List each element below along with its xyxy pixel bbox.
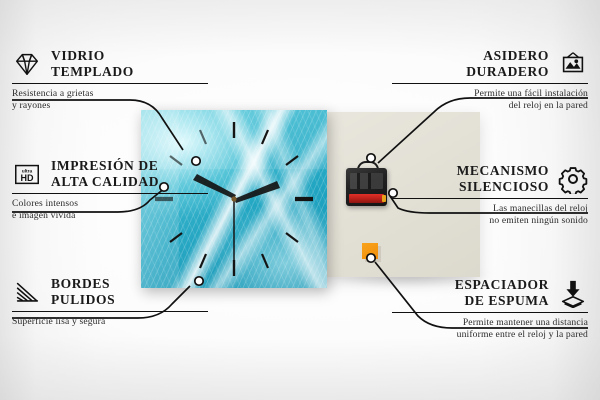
diamond-icon: [12, 49, 42, 79]
feature-header: ASIDERO DURADERO: [392, 48, 588, 79]
clock-movement-box: [346, 168, 387, 206]
gear-icon: [558, 164, 588, 194]
feature-description: Las manecillas del reloj no emiten ningú…: [392, 203, 588, 227]
battery: [349, 194, 384, 203]
feature-divider: [392, 198, 588, 199]
connector-dot-asidero: [367, 154, 375, 162]
feature-description: Permite mantener una distancia uniforme …: [392, 317, 588, 341]
feature-asidero-duradero: ASIDERO DURADERO Permite una fácil insta…: [392, 48, 588, 112]
feature-mecanismo-silencioso: MECANISMO SILENCIOSO Las manecillas del …: [392, 163, 588, 227]
feature-divider: [12, 83, 208, 84]
feature-vidrio-templado: VIDRIO TEMPLADO Resistencia a grietas y …: [12, 48, 208, 112]
feature-title: ASIDERO DURADERO: [466, 48, 549, 79]
feature-header: BORDES PULIDOS: [12, 276, 208, 307]
feature-divider: [392, 312, 588, 313]
feature-impresion-alta-calidad: ultra HD IMPRESIÓN DE ALTA CALIDAD Color…: [12, 158, 208, 222]
ultra-hd-bottom-label: HD: [21, 172, 34, 182]
feature-divider: [392, 83, 588, 84]
movement-detail: [350, 173, 383, 189]
feature-header: ultra HD IMPRESIÓN DE ALTA CALIDAD: [12, 158, 208, 189]
feature-bordes-pulidos: BORDES PULIDOS Superficie lisa y segura: [12, 276, 208, 328]
feature-divider: [12, 311, 208, 312]
feature-title: BORDES PULIDOS: [51, 276, 115, 307]
ultra-hd-icon: ultra HD: [12, 159, 42, 189]
foam-spacer: [362, 243, 378, 259]
feature-description: Resistencia a grietas y rayones: [12, 88, 208, 112]
feature-title: IMPRESIÓN DE ALTA CALIDAD: [51, 158, 159, 189]
foam-spacer-icon: [558, 278, 588, 308]
feature-header: ESPACIADOR DE ESPUMA: [392, 277, 588, 308]
feature-title: VIDRIO TEMPLADO: [51, 48, 134, 79]
feature-title: MECANISMO SILENCIOSO: [457, 163, 549, 194]
feature-description: Permite una fácil instalación del reloj …: [392, 88, 588, 112]
feature-title: ESPACIADOR DE ESPUMA: [455, 277, 549, 308]
hanger-loop: [357, 161, 379, 172]
connector-dot-espaciador: [367, 254, 375, 262]
feature-divider: [12, 193, 208, 194]
product-infographic: VIDRIO TEMPLADO Resistencia a grietas y …: [0, 0, 600, 400]
feature-espaciador-espuma: ESPACIADOR DE ESPUMA Permite mantener un…: [392, 277, 588, 341]
feature-header: VIDRIO TEMPLADO: [12, 48, 208, 79]
feature-header: MECANISMO SILENCIOSO: [392, 163, 588, 194]
picture-hanger-icon: [558, 49, 588, 79]
feature-description: Colores intensos e imagen vívida: [12, 198, 208, 222]
polished-edge-icon: [12, 277, 42, 307]
feature-description: Superficie lisa y segura: [12, 316, 208, 328]
